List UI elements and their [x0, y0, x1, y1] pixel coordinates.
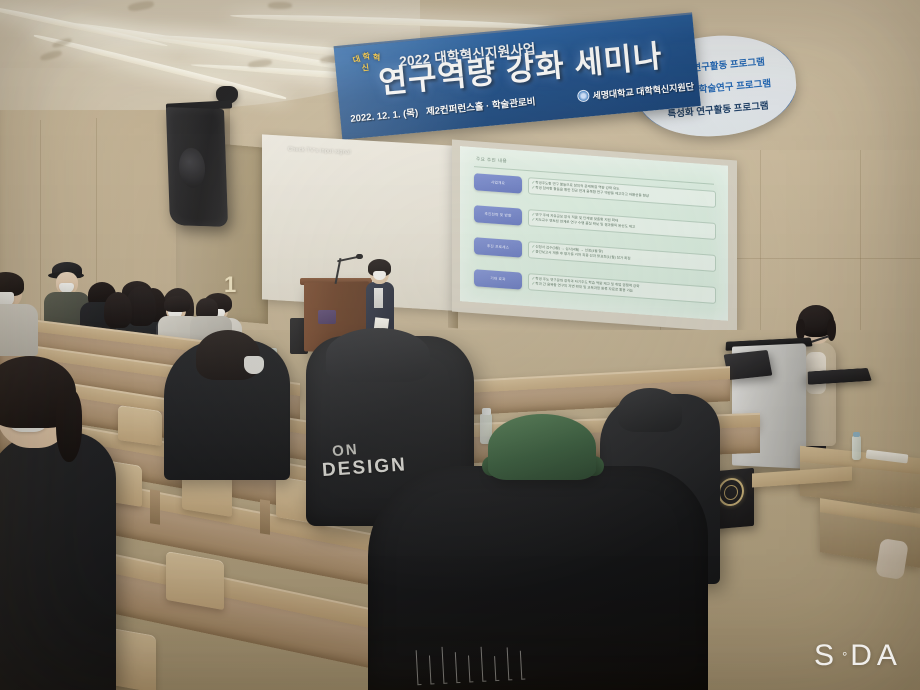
lettering-stroke — [416, 650, 422, 685]
university-emblem-icon — [577, 89, 590, 102]
slide-row-tag: 기대 효과 — [474, 269, 522, 290]
water-bottle — [852, 436, 861, 460]
photograph-root: 엉뚱한 연구활동 프로그램 전공역량 학술연구 프로그램 특성화 연구활동 프로… — [0, 0, 920, 690]
audience-hair — [164, 296, 190, 312]
curve-line-2-rest: 학술연구 프로그램 — [696, 78, 772, 96]
lettering-stroke — [455, 652, 461, 683]
watermark-degree: ° — [842, 649, 847, 664]
banner-organizer: 세명대학교 대학혁신지원단 — [577, 79, 695, 103]
lettering-stroke — [481, 647, 487, 682]
slide-tag-label: 기대 효과 — [490, 276, 505, 282]
bench-leg — [260, 499, 270, 535]
audience-hair — [104, 292, 132, 328]
slide-tag-label: 추진전략 및 방향 — [485, 212, 512, 219]
banner-logo-char-2: 학 — [362, 51, 371, 63]
audience-head-right-foreground — [618, 388, 682, 432]
podium-microphone-capsule-icon — [356, 254, 363, 259]
lettering-stroke — [520, 651, 526, 680]
host-shirt — [374, 288, 383, 308]
ceiling-vent — [268, 2, 292, 9]
audience-torso-edge — [0, 304, 38, 356]
slide-row: 사업개요 학생주도형 연구 활동으로 창의적 문제해결 역량 강화 유도 학생 … — [474, 173, 716, 208]
presentation-slide: 주요 추진 내용 사업개요 학생주도형 연구 활동으로 창의적 문제해결 역량 … — [460, 146, 728, 321]
jacket-hood — [326, 328, 430, 382]
slide-row-tag: 추진 프로세스 — [474, 237, 522, 258]
jacket-back-lettering — [415, 623, 617, 685]
podium-plaque — [318, 310, 336, 324]
lettering-stroke — [507, 647, 513, 680]
slide-row-tag: 사업개요 — [474, 173, 522, 194]
banner-logo-char-3: 혁 — [373, 52, 380, 63]
green-beanie-hat — [488, 414, 596, 480]
slide-row-tag: 추진전략 및 방향 — [474, 205, 522, 226]
curve-line-1-rest: 연구활동 프로그램 — [689, 57, 765, 75]
bench-leg — [150, 489, 160, 525]
lettering-stroke — [468, 655, 473, 682]
slide-tag-label: 사업개요 — [491, 180, 505, 186]
slide-title: 주요 추진 내용 — [476, 156, 507, 164]
slide-tag-label: 추진 프로세스 — [487, 244, 509, 251]
soda-watermark: S°DA — [806, 636, 910, 676]
banner-date: 2022. 12. 1. (목) — [350, 105, 419, 125]
seat-back — [166, 551, 224, 610]
presenter-hair — [798, 305, 834, 337]
lectern-side-monitor — [724, 350, 773, 380]
watermark-da: DA — [850, 639, 902, 673]
slide-row-box: 신청서 접수(3월) → 심사(4월) → 선정(4월 말) 중간보고서 제출 … — [528, 241, 716, 272]
bottle-cap — [853, 432, 860, 437]
lettering-stroke — [442, 647, 448, 684]
seat-back — [118, 405, 162, 446]
banner-organizer-label: 세명대학교 대학혁신지원단 — [592, 79, 695, 102]
lettering-stroke — [429, 655, 435, 684]
slide-row-box: 학생 주도 연구문화 정착과 자기주도 학습 역량 제고 및 취업 경쟁력 강화… — [528, 273, 716, 304]
audience-face-mask — [244, 356, 264, 374]
slide-row-box: 연구 주제 자유공모 방식 적용 및 단계별 맞춤형 지원 확대 지도교수 멘토… — [528, 209, 716, 240]
lettering-stroke — [494, 656, 499, 681]
projection-screen-right: 주요 추진 내용 사업개요 학생주도형 연구 활동으로 창의적 문제해결 역량 … — [452, 140, 737, 333]
audience-person-left-foreground — [0, 432, 116, 690]
slide-row: 기대 효과 학생 주도 연구문화 정착과 자기주도 학습 역량 제고 및 취업 … — [474, 269, 716, 304]
watermark-s: S — [814, 639, 839, 673]
banner-venue: 제2컨퍼런스홀 · 학술관로비 — [425, 93, 536, 117]
bottle-cap — [482, 408, 491, 415]
slide-row: 추진 프로세스 신청서 접수(3월) → 심사(4월) → 선정(4월 말) 중… — [474, 237, 716, 272]
slide-row: 추진전략 및 방향 연구 주제 자유공모 방식 적용 및 단계별 맞춤형 지원 … — [474, 205, 716, 240]
wall-mounted-loudspeaker — [166, 107, 228, 227]
